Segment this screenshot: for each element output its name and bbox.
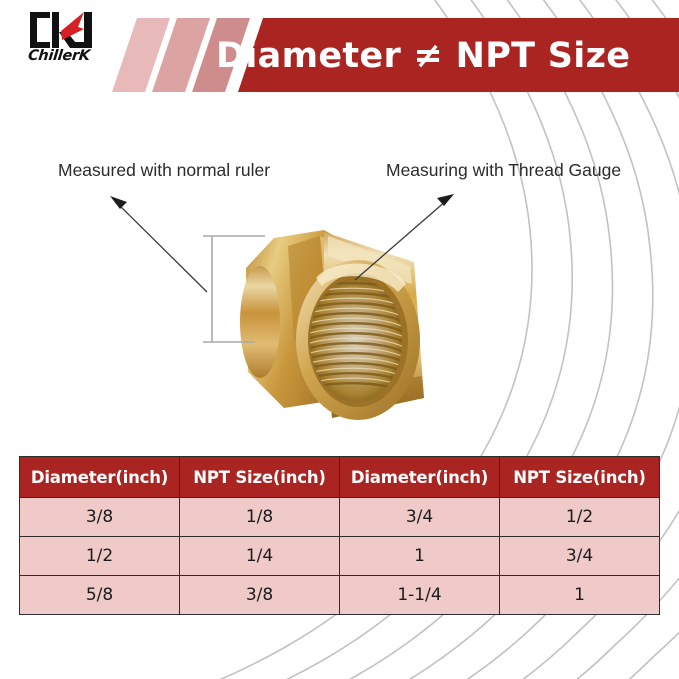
cell-diameter-1: 3/8 <box>20 498 180 537</box>
column-header-npt-1: NPT Size(inch) <box>180 457 340 498</box>
cell-diameter-1: 1/2 <box>20 537 180 576</box>
brand-logo: ChillerK <box>28 10 112 68</box>
brand-logo-wordmark: ChillerK <box>27 48 113 64</box>
column-header-diameter-2: Diameter(inch) <box>340 457 500 498</box>
illustration-area: Measured with normal ruler Measuring wit… <box>0 110 679 450</box>
cell-diameter-2: 3/4 <box>340 498 500 537</box>
table: Diameter(inch) NPT Size(inch) Diameter(i… <box>19 456 660 615</box>
table-row: 5/8 3/8 1-1/4 1 <box>20 576 660 615</box>
callout-left-label: Measured with normal ruler <box>58 160 270 181</box>
table-row: 3/8 1/8 3/4 1/2 <box>20 498 660 537</box>
table-row: 1/2 1/4 1 3/4 <box>20 537 660 576</box>
cell-npt-1: 1/4 <box>180 537 340 576</box>
cell-npt-2: 3/4 <box>500 537 660 576</box>
cell-npt-1: 1/8 <box>180 498 340 537</box>
table-header-row: Diameter(inch) NPT Size(inch) Diameter(i… <box>20 457 660 498</box>
callout-right-label: Measuring with Thread Gauge <box>386 160 621 181</box>
header-banner: ChillerK Diameter ≠ NPT Size <box>0 0 679 110</box>
cell-diameter-2: 1-1/4 <box>340 576 500 615</box>
chillerk-k-logo-icon <box>28 10 94 50</box>
brass-pipe-coupling-image <box>228 222 460 427</box>
column-header-npt-2: NPT Size(inch) <box>500 457 660 498</box>
column-header-diameter-1: Diameter(inch) <box>20 457 180 498</box>
cell-diameter-1: 5/8 <box>20 576 180 615</box>
page-title: Diameter ≠ NPT Size <box>216 30 676 82</box>
size-conversion-table: Diameter(inch) NPT Size(inch) Diameter(i… <box>19 456 660 615</box>
cell-npt-1: 3/8 <box>180 576 340 615</box>
product-infographic-page: ChillerK Diameter ≠ NPT Size <box>0 0 679 679</box>
arrow-up-left-icon <box>110 196 207 292</box>
cell-npt-2: 1 <box>500 576 660 615</box>
cell-npt-2: 1/2 <box>500 498 660 537</box>
cell-diameter-2: 1 <box>340 537 500 576</box>
